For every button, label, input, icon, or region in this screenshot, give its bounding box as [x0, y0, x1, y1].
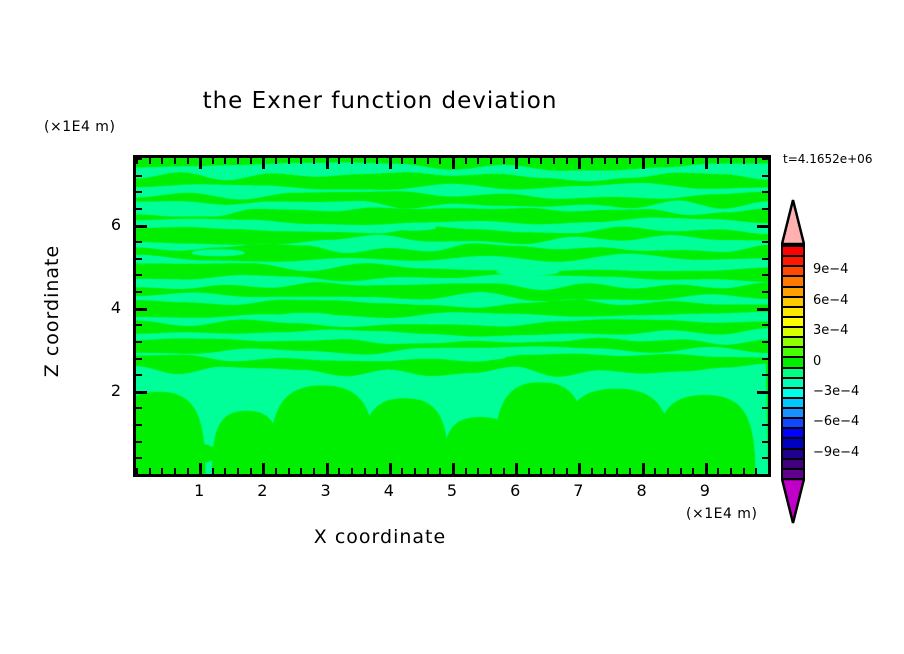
- x-tick-minor: [174, 468, 176, 474]
- y-tick-minor-right: [762, 374, 768, 376]
- colorbar-separator: [781, 458, 805, 460]
- colorbar-separator: [781, 356, 805, 358]
- x-tick-minor-top: [490, 158, 492, 164]
- y-axis-unit-label: (×1E4 m): [44, 119, 115, 135]
- colorbar-separator: [781, 448, 805, 450]
- x-axis-unit-label: (×1E4 m): [686, 506, 757, 522]
- x-tick-minor-top: [528, 158, 530, 164]
- x-tick-minor: [376, 468, 378, 474]
- y-tick-minor-right: [762, 291, 768, 293]
- colorbar-separator: [781, 346, 805, 348]
- x-tick-minor-top: [717, 158, 719, 164]
- y-tick-minor-right: [762, 457, 768, 459]
- x-tick-major-top: [262, 158, 265, 169]
- x-tick-label: 4: [374, 481, 404, 500]
- colorbar-separator: [781, 286, 805, 288]
- x-tick-minor-top: [338, 158, 340, 164]
- x-tick-major: [262, 463, 265, 474]
- x-tick-minor-top: [237, 158, 239, 164]
- x-tick-label: 2: [247, 481, 277, 500]
- colorbar-tick-label: 0: [813, 354, 821, 369]
- y-tick-minor-right: [762, 341, 768, 343]
- y-tick-minor: [136, 358, 142, 360]
- y-tick-minor: [136, 158, 142, 160]
- x-tick-major-top: [199, 158, 202, 169]
- x-tick-minor-top: [414, 158, 416, 164]
- x-tick-label: 5: [437, 481, 467, 500]
- x-tick-major: [326, 463, 329, 474]
- x-tick-minor-top: [187, 158, 189, 164]
- contour-field: [136, 158, 768, 474]
- x-tick-minor-top: [401, 158, 403, 164]
- x-tick-minor-top: [553, 158, 555, 164]
- y-tick-minor: [136, 175, 142, 177]
- x-tick-minor: [427, 468, 429, 474]
- x-tick-label: 3: [311, 481, 341, 500]
- y-tick-minor-right: [762, 191, 768, 193]
- colorbar-cap-max-icon: [781, 198, 805, 245]
- y-tick-minor-right: [762, 158, 768, 160]
- x-tick-minor: [300, 468, 302, 474]
- x-tick-minor-top: [654, 158, 656, 164]
- x-tick-minor-top: [376, 158, 378, 164]
- y-tick-minor-right: [762, 274, 768, 276]
- x-tick-minor-top: [149, 158, 151, 164]
- colorbar-separator: [781, 387, 805, 389]
- y-tick-minor-right: [762, 358, 768, 360]
- x-tick-minor-top: [351, 158, 353, 164]
- y-tick-label: 2: [95, 381, 121, 400]
- x-tick-minor-top: [224, 158, 226, 164]
- x-tick-minor: [616, 468, 618, 474]
- colorbar-tick-label: 6e−4: [813, 293, 848, 308]
- x-tick-minor-top: [427, 158, 429, 164]
- x-tick-minor: [503, 468, 505, 474]
- x-tick-minor: [667, 468, 669, 474]
- colorbar-separator: [781, 326, 805, 328]
- colorbar-separator: [781, 377, 805, 379]
- x-tick-minor-top: [768, 158, 770, 164]
- y-tick-minor: [136, 324, 142, 326]
- colorbar-tick-label: 9e−4: [813, 262, 848, 277]
- x-tick-major: [452, 463, 455, 474]
- x-tick-minor: [161, 468, 163, 474]
- x-tick-minor-top: [604, 158, 606, 164]
- x-tick-minor: [414, 468, 416, 474]
- x-tick-minor: [465, 468, 467, 474]
- colorbar-tick-label: −6e−4: [813, 414, 859, 429]
- y-tick-major: [136, 391, 147, 394]
- x-tick-minor: [604, 468, 606, 474]
- x-tick-minor: [629, 468, 631, 474]
- y-tick-major-right: [757, 225, 768, 228]
- y-tick-minor: [136, 341, 142, 343]
- y-tick-major-right: [757, 391, 768, 394]
- x-tick-minor-top: [743, 158, 745, 164]
- x-tick-minor-top: [566, 158, 568, 164]
- x-tick-minor: [364, 468, 366, 474]
- y-axis-title: Z coordinate: [41, 211, 63, 411]
- colorbar-separator: [781, 296, 805, 298]
- x-tick-minor: [224, 468, 226, 474]
- y-tick-minor-right: [762, 474, 768, 476]
- y-tick-major: [136, 308, 147, 311]
- y-tick-minor: [136, 474, 142, 476]
- x-tick-major-top: [326, 158, 329, 169]
- x-tick-major-top: [578, 158, 581, 169]
- colorbar-separator: [781, 316, 805, 318]
- x-tick-major-top: [705, 158, 708, 169]
- x-tick-major: [642, 463, 645, 474]
- x-tick-minor: [743, 468, 745, 474]
- figure-canvas: the Exner function deviation (×1E4 m) (×…: [0, 0, 904, 654]
- y-tick-minor: [136, 407, 142, 409]
- colorbar-tick-label: −3e−4: [813, 384, 859, 399]
- x-tick-minor: [528, 468, 530, 474]
- x-tick-minor: [490, 468, 492, 474]
- x-tick-label: 9: [690, 481, 720, 500]
- x-tick-minor: [237, 468, 239, 474]
- x-tick-minor-top: [250, 158, 252, 164]
- x-tick-minor: [187, 468, 189, 474]
- colorbar-separator: [781, 407, 805, 409]
- colorbar-separator: [781, 245, 805, 247]
- colorbar-separator: [781, 306, 805, 308]
- x-tick-major-top: [452, 158, 455, 169]
- y-tick-minor: [136, 274, 142, 276]
- colorbar-separator: [781, 265, 805, 267]
- y-tick-minor-right: [762, 175, 768, 177]
- x-tick-minor-top: [439, 158, 441, 164]
- x-tick-minor: [351, 468, 353, 474]
- x-tick-minor: [654, 468, 656, 474]
- y-tick-minor: [136, 208, 142, 210]
- x-tick-minor-top: [313, 158, 315, 164]
- y-tick-minor: [136, 191, 142, 193]
- y-tick-minor: [136, 258, 142, 260]
- x-tick-minor-top: [161, 158, 163, 164]
- x-tick-minor: [439, 468, 441, 474]
- x-tick-minor-top: [755, 158, 757, 164]
- y-tick-minor: [136, 291, 142, 293]
- x-tick-minor-top: [465, 158, 467, 164]
- x-tick-label: 1: [184, 481, 214, 500]
- x-tick-minor-top: [275, 158, 277, 164]
- x-tick-minor-top: [730, 158, 732, 164]
- x-tick-minor: [553, 468, 555, 474]
- y-tick-minor: [136, 457, 142, 459]
- x-tick-minor: [566, 468, 568, 474]
- x-tick-minor: [275, 468, 277, 474]
- y-tick-minor: [136, 424, 142, 426]
- y-tick-minor-right: [762, 424, 768, 426]
- x-tick-minor-top: [174, 158, 176, 164]
- x-tick-minor-top: [667, 158, 669, 164]
- x-tick-minor: [212, 468, 214, 474]
- x-tick-minor: [540, 468, 542, 474]
- colorbar-tick-label: −9e−4: [813, 445, 859, 460]
- x-tick-minor: [250, 468, 252, 474]
- page-title: the Exner function deviation: [0, 88, 760, 114]
- x-tick-label: 7: [563, 481, 593, 500]
- x-tick-minor-top: [364, 158, 366, 164]
- x-tick-major: [578, 463, 581, 474]
- x-tick-major: [515, 463, 518, 474]
- y-tick-minor: [136, 241, 142, 243]
- x-tick-minor: [730, 468, 732, 474]
- x-tick-major: [199, 463, 202, 474]
- x-tick-minor-top: [680, 158, 682, 164]
- colorbar-separator: [781, 275, 805, 277]
- x-tick-major: [705, 463, 708, 474]
- x-tick-minor: [338, 468, 340, 474]
- x-tick-minor-top: [591, 158, 593, 164]
- y-tick-label: 4: [95, 298, 121, 317]
- x-tick-major: [389, 463, 392, 474]
- x-tick-minor-top: [212, 158, 214, 164]
- y-tick-minor-right: [762, 208, 768, 210]
- colorbar-separator: [781, 417, 805, 419]
- y-tick-major-right: [757, 308, 768, 311]
- colorbar-separator: [781, 468, 805, 470]
- colorbar-separator: [781, 255, 805, 257]
- x-tick-minor: [692, 468, 694, 474]
- x-tick-minor-top: [477, 158, 479, 164]
- x-tick-minor: [149, 468, 151, 474]
- x-tick-major-top: [389, 158, 392, 169]
- x-tick-minor: [591, 468, 593, 474]
- x-tick-minor: [755, 468, 757, 474]
- y-tick-minor-right: [762, 241, 768, 243]
- x-tick-minor-top: [503, 158, 505, 164]
- y-tick-label: 6: [95, 215, 121, 234]
- y-tick-major: [136, 225, 147, 228]
- x-tick-major-top: [515, 158, 518, 169]
- y-tick-minor-right: [762, 441, 768, 443]
- y-tick-minor-right: [762, 258, 768, 260]
- x-axis-title: X coordinate: [0, 526, 904, 548]
- contour-plot-area: [133, 155, 771, 477]
- colorbar-separator: [781, 397, 805, 399]
- x-tick-minor: [717, 468, 719, 474]
- x-tick-label: 6: [500, 481, 530, 500]
- colorbar: [781, 245, 805, 478]
- x-tick-minor: [313, 468, 315, 474]
- x-tick-minor: [477, 468, 479, 474]
- x-tick-minor-top: [540, 158, 542, 164]
- x-tick-minor: [680, 468, 682, 474]
- colorbar-separator: [781, 427, 805, 429]
- colorbar-separator: [781, 367, 805, 369]
- colorbar-tick-label: 3e−4: [813, 323, 848, 338]
- y-tick-minor: [136, 374, 142, 376]
- y-tick-minor-right: [762, 324, 768, 326]
- colorbar-cap-min-icon: [781, 478, 805, 525]
- x-tick-minor-top: [616, 158, 618, 164]
- x-tick-minor: [768, 468, 770, 474]
- colorbar-separator: [781, 437, 805, 439]
- y-tick-minor-right: [762, 407, 768, 409]
- x-tick-minor: [401, 468, 403, 474]
- x-tick-major-top: [642, 158, 645, 169]
- colorbar-separator: [781, 336, 805, 338]
- x-tick-minor-top: [300, 158, 302, 164]
- timestamp-label: t=4.1652e+06: [783, 152, 872, 166]
- x-tick-minor: [288, 468, 290, 474]
- x-tick-minor-top: [692, 158, 694, 164]
- x-tick-minor-top: [629, 158, 631, 164]
- x-tick-minor-top: [288, 158, 290, 164]
- y-tick-minor: [136, 441, 142, 443]
- x-tick-label: 8: [627, 481, 657, 500]
